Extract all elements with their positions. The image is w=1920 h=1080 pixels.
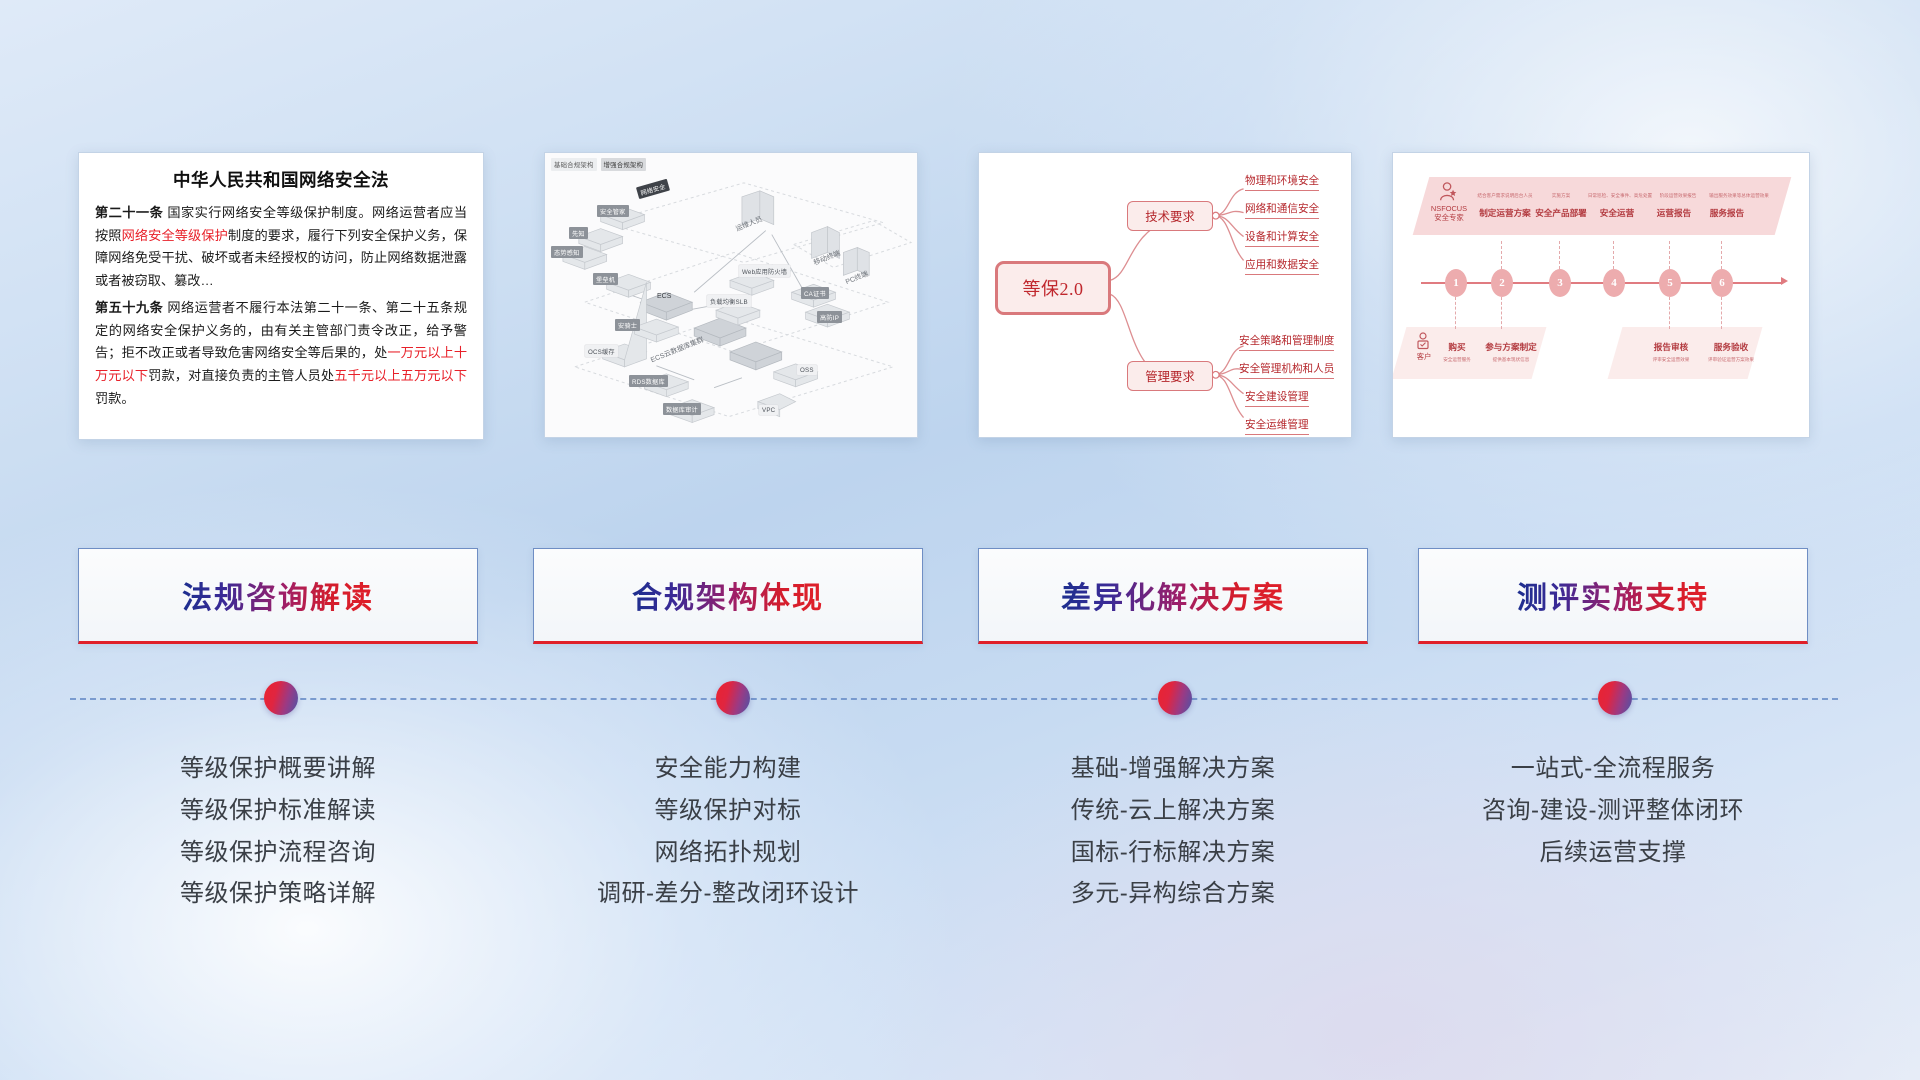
stage-marker[interactable]: 5 [1659,269,1681,297]
topology-node-chip: 堡垒机 [593,273,618,285]
customer-action-title: 参与方案制定 [1479,341,1543,353]
section-title-box-assessment[interactable]: 测评实施支持 [1418,548,1808,644]
mindmap-leaf: 设备和计算安全 [1245,229,1319,247]
customer-action-title: 服务验收 [1703,341,1759,353]
stage-connector [1669,297,1670,329]
section-title-label: 测评实施支持 [1517,573,1709,617]
service-item: 等级保护流程咨询 [78,832,478,874]
stage-marker[interactable]: 3 [1549,269,1571,297]
stage-connector [1721,241,1722,269]
service-column-regulation: 等级保护概要讲解 等级保护标准解读 等级保护流程咨询 等级保护策略详解 [78,748,478,915]
topology-node-chip: CA证书 [801,287,829,299]
service-item: 等级保护对标 [533,790,923,832]
customer-label: 客户 [1413,353,1435,362]
service-item: 等级保护标准解读 [78,790,478,832]
mindmap-leaf: 应用和数据安全 [1245,257,1319,275]
law-article-number: 第二十一条 [95,205,163,220]
service-column-solution: 基础-增强解决方案 传统-云上解决方案 国标-行标解决方案 多元-异构综合方案 [978,748,1368,915]
mindmap-leaf: 安全策略和管理制度 [1239,333,1334,351]
stage-title: 安全运营 [1587,207,1647,219]
security-expert-icon [1437,181,1459,203]
stage-subtitle: 输出服务效果等总体运营效果 [1697,193,1781,199]
topology-node-chip: OSS [797,365,817,375]
topology-node-chip: 负载均衡SLB [707,295,751,307]
service-item: 国标-行标解决方案 [978,832,1368,874]
topology-diagram: 基础合规架构 增强合规架构 [545,153,917,437]
topology-node-chip: 安骑士 [615,319,640,331]
section-titles-row: 法规咨询解读 合规架构体现 差异化解决方案 测评实施支持 [0,548,1920,644]
topology-node-chip: 安全管家 [597,205,629,217]
card-compliance-architecture[interactable]: 基础合规架构 增强合规架构 [544,152,918,438]
timeline-dot-3[interactable] [1158,681,1192,715]
topology-node-chip: 先知 [569,227,588,239]
topology-node-chip: 态势感知 [551,246,583,258]
service-item: 多元-异构综合方案 [978,873,1368,915]
timeline-dashed-line [70,698,1838,700]
preview-cards-row: 中华人民共和国网络安全法 第二十一条 国家实行网络安全等级保护制度。网络运营者应… [0,152,1920,444]
poster-stage: 中华人民共和国网络安全法 第二十一条 国家实行网络安全等级保护制度。网络运营者应… [0,0,1920,1080]
stage-connector [1501,241,1502,269]
customer-action-subtitle: 提供基本现状信息 [1479,357,1543,363]
section-title-box-architecture[interactable]: 合规架构体现 [533,548,923,644]
stage-connector [1501,297,1502,329]
service-item: 传统-云上解决方案 [978,790,1368,832]
service-columns: 等级保护概要讲解 等级保护标准解读 等级保护流程咨询 等级保护策略详解 安全能力… [0,748,1920,978]
section-title-label: 法规咨询解读 [182,573,374,617]
mindmap-leaf: 安全管理机构和人员 [1239,361,1334,379]
timeline-arrow-icon [1781,277,1788,285]
service-item: 等级保护概要讲解 [78,748,478,790]
stage-subtitle: 结合客户需求说明后台人员 [1467,193,1543,199]
mindmap-branch-technical[interactable]: 技术要求 [1127,201,1213,231]
mindmap-root-node[interactable]: 等保2.0 [995,261,1111,315]
service-column-assessment: 一站式-全流程服务 咨询-建设-测评整体闭环 后续运营支撑 [1418,748,1808,873]
stage-marker[interactable]: 6 [1711,269,1733,297]
service-item: 咨询-建设-测评整体闭环 [1418,790,1808,832]
law-text-segment: 罚款。 [95,391,135,406]
topology-node-chip: Web应用防火墙 [739,265,790,277]
mindmap-leaf: 安全建设管理 [1245,389,1309,407]
mindmap: 等保2.0 技术要求 管理要求 物理和环境安全 网络和通信安全 设备和计算安全 … [979,153,1351,437]
topology-node-label: ECS [657,293,671,300]
customer-action-title: 报告审核 [1643,341,1699,353]
stage-title: 服务报告 [1699,207,1755,219]
law-article-number: 第五十九条 [95,300,163,315]
customer-icon [1413,331,1433,351]
customer-action-subtitle: 评审安全运营效果 [1641,357,1701,363]
topology-node-chip: VPC [759,405,778,415]
timeline-dot-2[interactable] [716,681,750,715]
law-article-59: 第五十九条 网络运营者不履行本法第二十一条、第二十五条规定的网络安全保护义务的，… [95,297,467,411]
stage-marker[interactable]: 1 [1445,269,1467,297]
stage-connector [1455,297,1456,329]
service-item: 后续运营支撑 [1418,832,1808,874]
mindmap-branch-management[interactable]: 管理要求 [1127,361,1213,391]
stage-connector [1613,241,1614,269]
stage-connector [1669,241,1670,269]
mindmap-leaf: 物理和环境安全 [1245,173,1319,191]
topology-node-chip: 高防IP [817,311,842,323]
service-item: 安全能力构建 [533,748,923,790]
law-text-segment: 罚款，对直接负责的主管人员处 [148,368,334,383]
service-item: 调研-差分-整改闭环设计 [533,873,923,915]
provider-role: 安全专家 [1434,213,1464,222]
customer-action-title: 购买 [1437,341,1477,353]
topology-node-chip: OCS缓存 [585,345,618,357]
stage-connector [1721,297,1722,329]
stage-title: 运营报告 [1646,207,1702,219]
law-text-segment-highlight: 网络安全等级保护 [122,228,228,243]
section-title-box-solution[interactable]: 差异化解决方案 [978,548,1368,644]
timeline-track [70,698,1838,700]
nsfocus-flow: NSFOCUS 安全专家 客户 1 2 3 4 5 [1393,153,1809,437]
card-dengbao-mindmap[interactable]: 等保2.0 技术要求 管理要求 物理和环境安全 网络和通信安全 设备和计算安全 … [978,152,1352,438]
service-item: 网络拓扑规划 [533,832,923,874]
section-title-box-regulation[interactable]: 法规咨询解读 [78,548,478,644]
section-title-label: 合规架构体现 [632,573,824,617]
stage-connector [1559,241,1560,269]
customer-action-subtitle: 安全运营服务 [1435,357,1479,363]
timeline-dot-4[interactable] [1598,681,1632,715]
service-column-architecture: 安全能力构建 等级保护对标 网络拓扑规划 调研-差分-整改闭环设计 [533,748,923,915]
topology-node-chip: 数据库审计 [663,403,701,415]
card-cybersecurity-law[interactable]: 中华人民共和国网络安全法 第二十一条 国家实行网络安全等级保护制度。网络运营者应… [78,152,484,440]
law-title: 中华人民共和国网络安全法 [95,167,467,192]
mindmap-leaf: 网络和通信安全 [1245,201,1319,219]
service-item: 等级保护策略详解 [78,873,478,915]
section-title-label: 差异化解决方案 [1061,573,1285,617]
customer-action-subtitle: 评审验证运营方案效果 [1699,357,1763,363]
service-item: 一站式-全流程服务 [1418,748,1808,790]
service-item: 基础-增强解决方案 [978,748,1368,790]
timeline-dot-1[interactable] [264,681,298,715]
stage-marker[interactable]: 4 [1603,269,1625,297]
law-penalty-highlight: 五千元以上五万元以下 [334,368,467,383]
customer-banner-right [1608,327,1763,379]
card-nsfocus-service-flow[interactable]: NSFOCUS 安全专家 客户 1 2 3 4 5 [1392,152,1810,438]
stage-marker[interactable]: 2 [1491,269,1513,297]
topology-node-chip: RDS数据库 [629,375,668,387]
mindmap-leaf: 安全运维管理 [1245,417,1309,435]
law-article-21: 第二十一条 国家实行网络安全等级保护制度。网络运营者应当按照网络安全等级保护制度… [95,202,467,293]
